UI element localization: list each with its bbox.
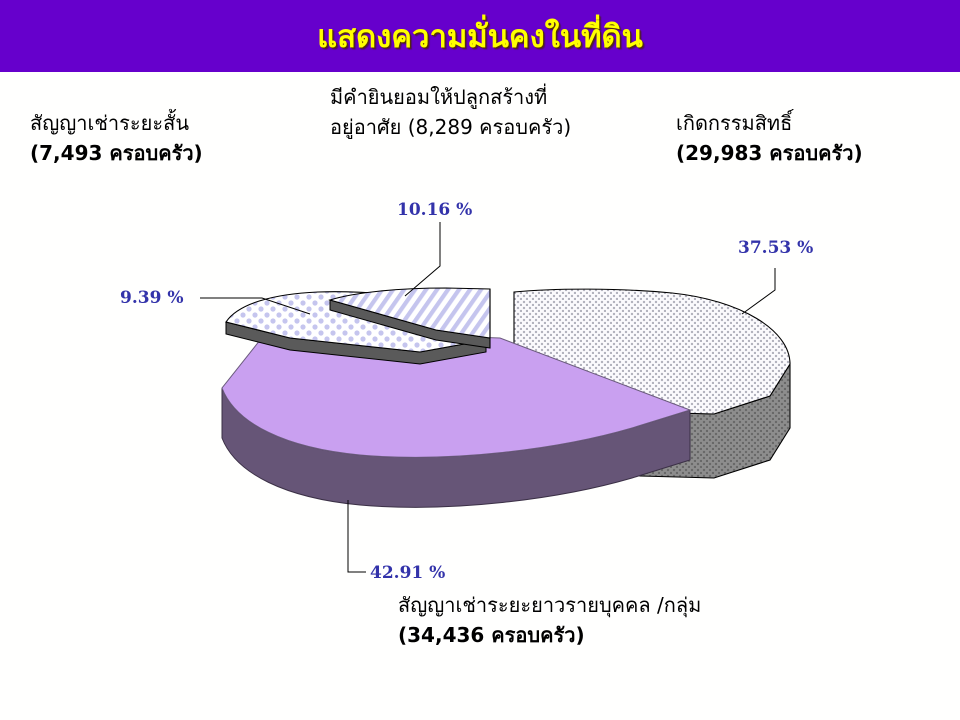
leader-line-center (405, 222, 440, 296)
leader-line-right (742, 268, 775, 314)
leader-line-bottom (348, 500, 366, 572)
pie-chart (0, 0, 960, 720)
